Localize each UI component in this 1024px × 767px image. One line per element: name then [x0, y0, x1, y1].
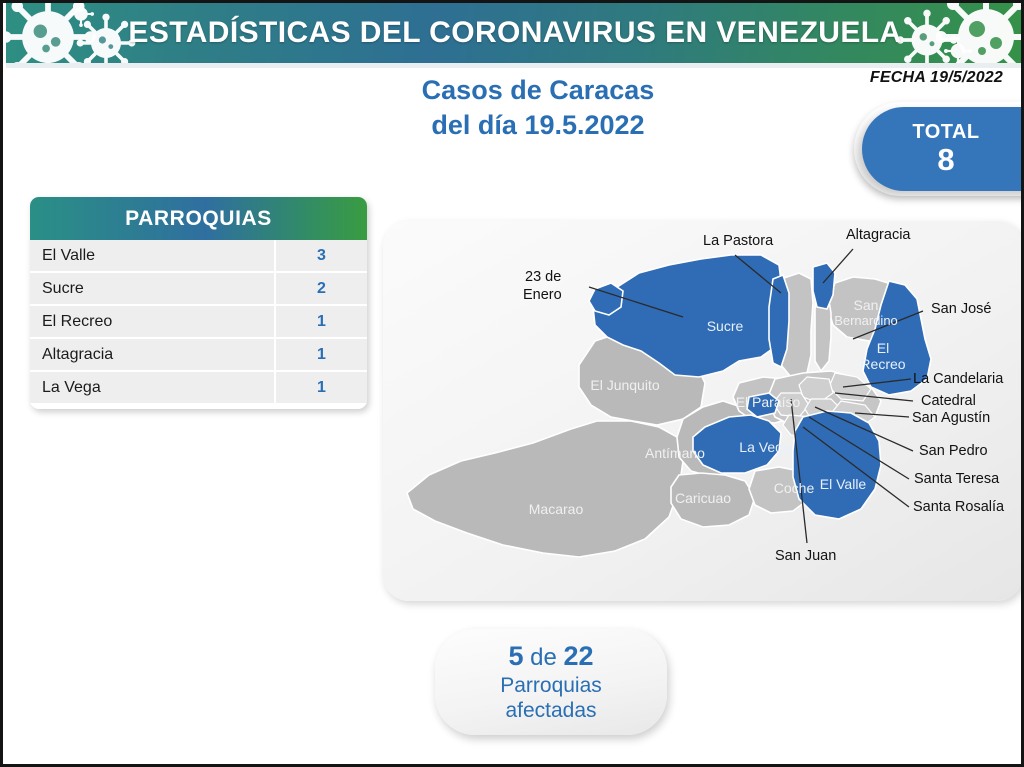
map-callout-san-agustin: San Agustín: [912, 410, 990, 426]
table-header: PARROQUIAS: [30, 197, 367, 240]
table-row[interactable]: El Recreo 1: [30, 306, 367, 339]
total-badge: TOTAL 8: [862, 107, 1024, 191]
map-label-el-junquito: El Junquito: [579, 378, 671, 394]
affected-summary-badge: 5 de 22 Parroquias afectadas: [435, 629, 667, 735]
page-title-line2: del día 19.5.2022: [303, 108, 773, 143]
summary-connector: de: [523, 644, 563, 671]
parroquia-name: La Vega: [30, 372, 274, 403]
header-banner: ESTADÍSTICAS DEL CORONAVIRUS EN VENEZUEL…: [6, 3, 1024, 63]
map-region-el-valle: [793, 411, 881, 519]
slide-root: ESTADÍSTICAS DEL CORONAVIRUS EN VENEZUEL…: [0, 0, 1024, 767]
date-label: FECHA 19/5/2022: [870, 69, 1003, 87]
map-label-caricuao: Caricuao: [661, 491, 745, 507]
map-callout-san-juan: San Juan: [775, 548, 836, 564]
map-label-sucre: Sucre: [695, 319, 755, 335]
parroquia-value: 1: [274, 372, 367, 403]
map-label-el-paraiso: El Paraíso: [725, 395, 811, 411]
banner-underline: [6, 63, 1024, 68]
page-title: Casos de Caracas del día 19.5.2022: [303, 73, 773, 142]
parroquia-value: 1: [274, 306, 367, 337]
map-callout-catedral: Catedral: [921, 393, 976, 409]
map-callout-san-pedro: San Pedro: [919, 443, 988, 459]
map-label-san-bernardino-line2: Bernardino: [816, 314, 916, 329]
map-label-el-valle: El Valle: [807, 477, 879, 493]
map-callout-santa-rosalia: Santa Rosalía: [913, 499, 1004, 515]
map-callout-23-de-enero-line2: Enero: [523, 287, 562, 303]
caracas-map-panel: Sucre El Junquito El Paraíso San Bernard…: [383, 221, 1023, 601]
summary-line3: afectadas: [505, 698, 596, 723]
map-callout-san-jose: San José: [931, 301, 991, 317]
table-row[interactable]: Altagracia 1: [30, 339, 367, 372]
table-row[interactable]: El Valle 3: [30, 240, 367, 273]
map-label-san-bernardino-line1: San: [829, 298, 903, 314]
map-callout-la-pastora: La Pastora: [703, 233, 773, 249]
parroquia-name: Altagracia: [30, 339, 274, 370]
parroquia-name: El Recreo: [30, 306, 274, 337]
map-label-antimano: Antímano: [631, 446, 719, 462]
table-row[interactable]: Sucre 2: [30, 273, 367, 306]
map-label-la-vega: La Vega: [727, 440, 803, 456]
page-title-line1: Casos de Caracas: [303, 73, 773, 108]
parroquias-table: PARROQUIAS El Valle 3 Sucre 2 El Recreo …: [30, 197, 367, 409]
parroquia-value: 1: [274, 339, 367, 370]
total-badge-value: 8: [937, 144, 954, 177]
total-badge-label: TOTAL: [912, 121, 979, 143]
summary-total: 22: [564, 641, 594, 671]
map-callout-la-candelaria: La Candelaria: [913, 371, 1003, 387]
map-callout-altagracia: Altagracia: [846, 227, 910, 243]
map-callout-santa-teresa: Santa Teresa: [914, 471, 999, 487]
map-label-macarao: Macarao: [513, 502, 599, 518]
map-region-macarao: [407, 421, 683, 557]
summary-count: 5: [508, 641, 523, 671]
map-label-el-recreo-line1: El: [859, 341, 907, 357]
summary-fraction: 5 de 22: [508, 641, 593, 673]
map-region-blue-strip-west: [769, 275, 789, 367]
parroquia-name: El Valle: [30, 240, 274, 271]
map-callout-23-de-enero-line1: 23 de: [525, 269, 561, 285]
map-label-el-recreo-line2: Recreo: [845, 357, 921, 373]
parroquia-name: Sucre: [30, 273, 274, 304]
summary-line2: Parroquias: [500, 673, 602, 698]
parroquia-value: 3: [274, 240, 367, 271]
table-row[interactable]: La Vega 1: [30, 372, 367, 405]
parroquia-value: 2: [274, 273, 367, 304]
banner-title: ESTADÍSTICAS DEL CORONAVIRUS EN VENEZUEL…: [6, 3, 1024, 63]
